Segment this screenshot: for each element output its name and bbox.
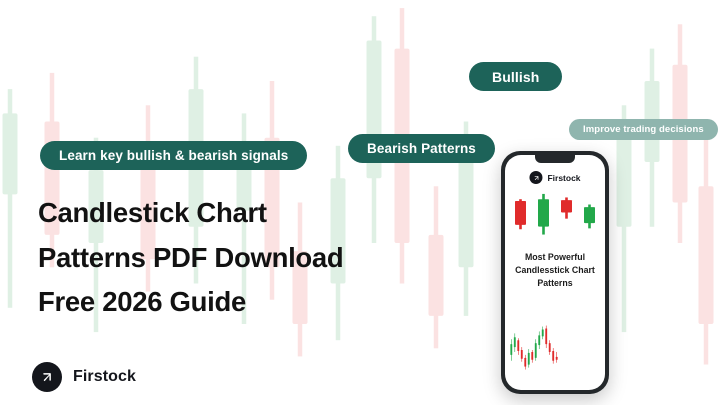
phone-notch [535,155,575,163]
phone-caption: Most Powerful Candlesstick Chart Pattern… [509,251,601,291]
phone-hero-candlestick-chart [505,192,605,240]
headline-line-1: Candlestick Chart [38,191,458,236]
page-title: Candlestick Chart Patterns PDF Download … [38,191,458,325]
badge-bearish-patterns[interactable]: Bearish Patterns [348,134,495,163]
phone-caption-line-1: Most Powerful [509,251,601,264]
brand-name: Firstock [73,368,136,386]
phone-caption-line-2: Candlesstick Chart [509,264,601,277]
badge-bullish[interactable]: Bullish [469,62,562,91]
headline-line-2: Patterns PDF Download [38,236,458,281]
headline-line-3: Free 2026 Guide [38,280,458,325]
badge-improve-trading-decisions[interactable]: Improve trading decisions [569,119,718,140]
arrow-up-right-icon [32,362,62,392]
brand-lockup[interactable]: Firstock [32,362,136,392]
phone-bottom-candlestick-chart [508,324,560,376]
phone-brand-lockup: Firstock [529,171,580,184]
banner-canvas: Learn key bullish & bearish signals Bull… [0,0,720,405]
arrow-up-right-icon [529,171,542,184]
phone-brand-name: Firstock [547,173,580,183]
phone-screen: Firstock Most Powerful Candlesstick Char… [505,155,605,390]
badge-learn-signals[interactable]: Learn key bullish & bearish signals [40,141,307,170]
phone-mockup: Firstock Most Powerful Candlesstick Char… [501,151,609,394]
phone-caption-line-3: Patterns [509,277,601,290]
